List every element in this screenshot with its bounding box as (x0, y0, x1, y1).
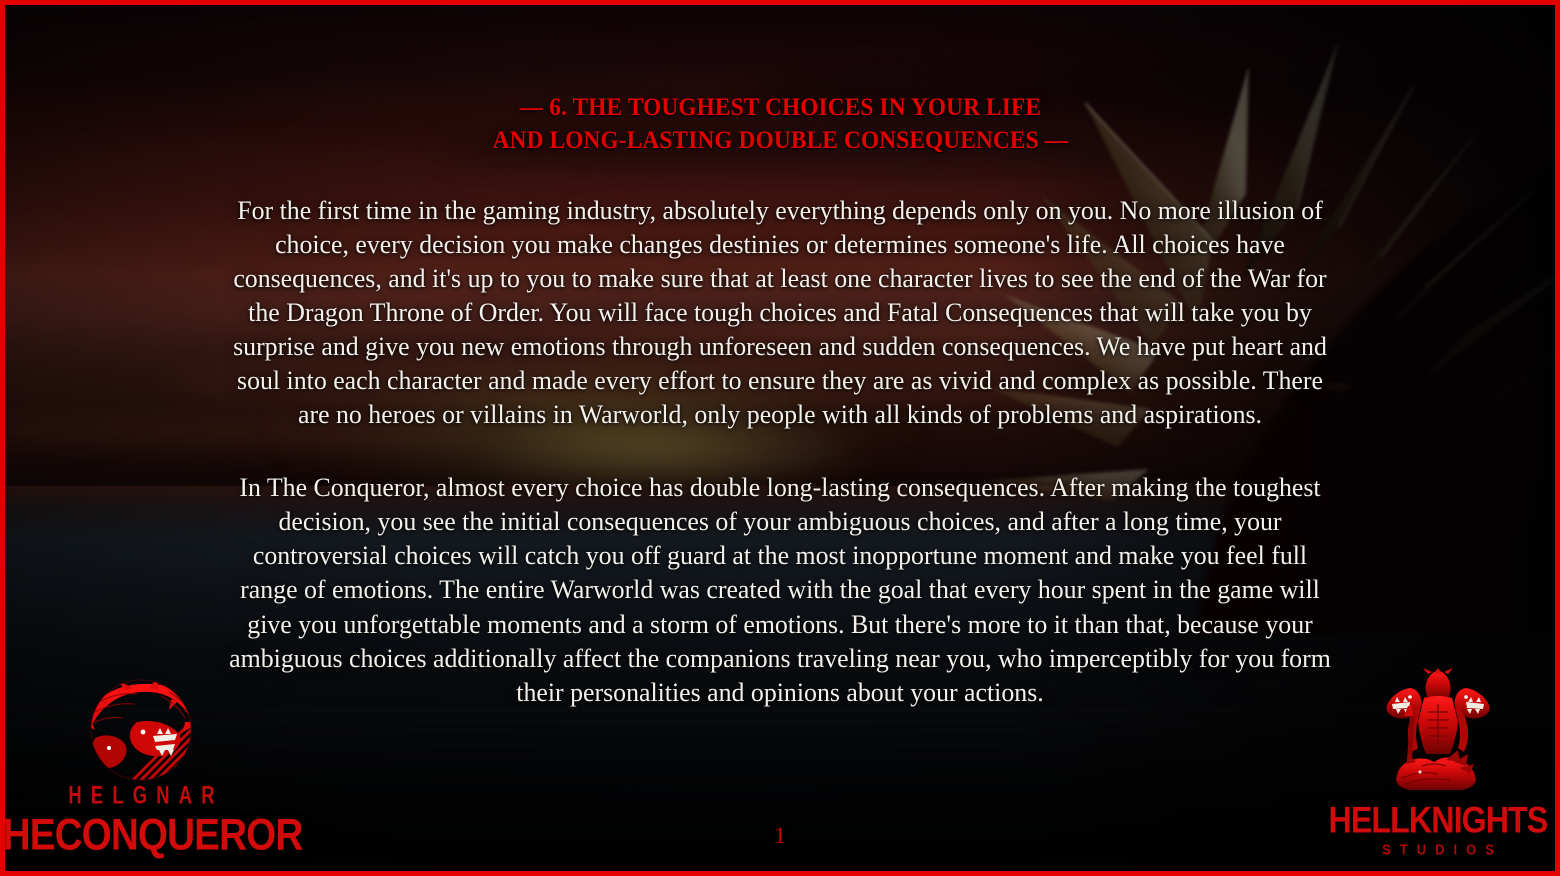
presentation-slide: — 6. THE TOUGHEST CHOICES IN YOUR LIFE A… (0, 0, 1560, 876)
slide-content: — 6. THE TOUGHEST CHOICES IN YOUR LIFE A… (5, 5, 1555, 871)
paragraph-2: In The Conqueror, almost every choice ha… (224, 470, 1336, 708)
slide-heading: — 6. THE TOUGHEST CHOICES IN YOUR LIFE A… (492, 91, 1068, 157)
paragraph-1: For the first time in the gaming industr… (224, 193, 1336, 431)
page-number: 1 (5, 823, 1555, 849)
slide-body: For the first time in the gaming industr… (210, 193, 1350, 709)
